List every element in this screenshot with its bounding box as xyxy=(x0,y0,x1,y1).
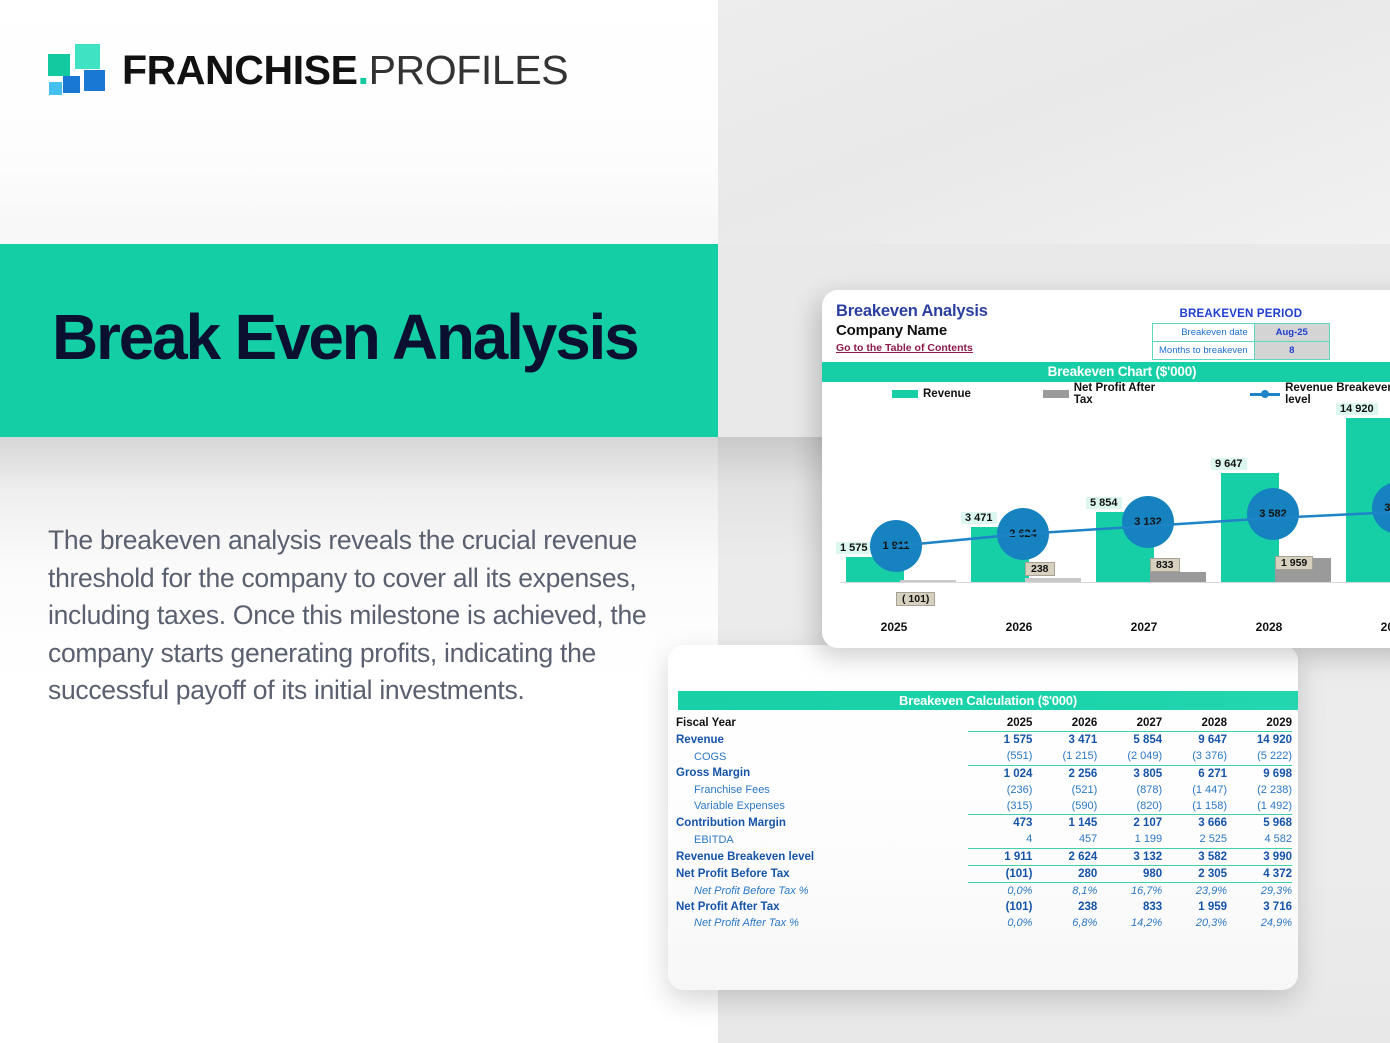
breakeven-date-label: Breakeven date xyxy=(1153,324,1255,342)
logo-squares-icon xyxy=(48,44,106,96)
row-cell: (3 376) xyxy=(1162,748,1227,765)
row-cell: 980 xyxy=(1097,865,1162,882)
page-title: Break Even Analysis xyxy=(52,305,638,369)
table-row: Net Profit Before Tax % 0,0% 8,1% 16,7% … xyxy=(676,882,1292,899)
brand-name-bold: FRANCHISE xyxy=(122,47,358,93)
row-cell: 6 271 xyxy=(1162,765,1227,782)
row-cell: 0,0% xyxy=(968,915,1033,931)
row-cell: 5 968 xyxy=(1227,815,1292,832)
row-cell: 3 132 xyxy=(1097,848,1162,865)
row-cell: 1 575 xyxy=(968,732,1033,749)
row-cell: (1 215) xyxy=(1032,748,1097,765)
table-row: COGS (551) (1 215) (2 049) (3 376) (5 22… xyxy=(676,748,1292,765)
row-cell: (101) xyxy=(968,865,1033,882)
table-row: Contribution Margin 473 1 145 2 107 3 66… xyxy=(676,815,1292,832)
row-cell: 4 582 xyxy=(1227,831,1292,848)
x-axis-label-2026: 2026 xyxy=(963,620,1075,634)
revenue-value-2025: 1 575 xyxy=(836,542,872,554)
net-profit-value-2026: 238 xyxy=(1025,562,1055,576)
net-profit-swatch-icon xyxy=(1043,390,1069,398)
x-axis-label-2028: 2028 xyxy=(1213,620,1325,634)
row-cell: 24,9% xyxy=(1227,915,1292,931)
row-cell: 6,8% xyxy=(1032,915,1097,931)
row-cell: (1 447) xyxy=(1162,782,1227,798)
row-cell: 4 xyxy=(968,831,1033,848)
row-cell: 2 305 xyxy=(1162,865,1227,882)
row-label: Revenue xyxy=(676,732,968,749)
revenue-value-2026: 3 471 xyxy=(961,512,997,524)
months-to-breakeven-value: 8 xyxy=(1254,342,1329,360)
breakeven-period-heading: BREAKEVEN PERIOD xyxy=(1152,308,1330,320)
row-label: EBITDA xyxy=(676,831,968,848)
row-label: COGS xyxy=(676,748,968,765)
row-label: Net Profit Before Tax % xyxy=(676,882,968,899)
row-cell: (236) xyxy=(968,782,1033,798)
row-label: Franchise Fees xyxy=(676,782,968,798)
revenue-value-2027: 5 854 xyxy=(1086,497,1122,509)
legend-item-revenue[interactable]: Revenue xyxy=(892,388,971,400)
row-cell: (521) xyxy=(1032,782,1097,798)
chart-baseline xyxy=(840,582,1390,583)
net-profit-bar-2026[interactable] xyxy=(1025,578,1081,582)
kpi-row: Breakeven date Aug-25 xyxy=(1153,324,1330,342)
x-axis-label-2025: 2025 xyxy=(838,620,950,634)
row-cell: (1 492) xyxy=(1227,798,1292,815)
fiscal-year-header: Fiscal Year xyxy=(676,715,968,732)
table-row: Franchise Fees (236) (521) (878) (1 447)… xyxy=(676,782,1292,798)
net-profit-value-2025: ( 101) xyxy=(896,592,935,606)
row-cell: 3 716 xyxy=(1227,899,1292,915)
row-cell: 238 xyxy=(1032,899,1097,915)
row-cell: 3 582 xyxy=(1162,848,1227,865)
row-cell: 3 990 xyxy=(1227,848,1292,865)
row-label: Contribution Margin xyxy=(676,815,968,832)
row-cell: 2 256 xyxy=(1032,765,1097,782)
row-cell: 3 666 xyxy=(1162,815,1227,832)
table-band-title: Breakeven Calculation ($'000) xyxy=(678,691,1298,710)
row-cell: 9 698 xyxy=(1227,765,1292,782)
table-row: Gross Margin 1 024 2 256 3 805 6 271 9 6… xyxy=(676,765,1292,782)
row-cell: 8,1% xyxy=(1032,882,1097,899)
row-cell: (590) xyxy=(1032,798,1097,815)
chart-plot-area: 1 575 ( 101) 1 911 2025 3 471 238 2 624 … xyxy=(822,408,1390,648)
row-cell: (820) xyxy=(1097,798,1162,815)
net-profit-bar-2025[interactable] xyxy=(900,580,956,582)
row-cell: 9 647 xyxy=(1162,732,1227,749)
revenue-swatch-icon xyxy=(892,390,918,398)
bg-panel-top-right xyxy=(718,0,1390,244)
chart-group-2029: 14 920 3 716 3 990 xyxy=(1338,408,1390,582)
breakeven-line-marker-icon xyxy=(1250,389,1280,399)
row-cell: 1 199 xyxy=(1097,831,1162,848)
year-header-2028: 2028 xyxy=(1162,715,1227,732)
row-cell: 29,3% xyxy=(1227,882,1292,899)
year-header-2027: 2027 xyxy=(1097,715,1162,732)
year-header-2025: 2025 xyxy=(968,715,1033,732)
row-cell: 1 959 xyxy=(1162,899,1227,915)
breakeven-bubble-2027[interactable]: 3 132 xyxy=(1122,496,1174,548)
breakeven-calculation-table: Fiscal Year 2025 2026 2027 2028 2029 Rev… xyxy=(676,715,1292,931)
row-cell: 23,9% xyxy=(1162,882,1227,899)
net-profit-value-2027: 833 xyxy=(1150,558,1180,572)
row-label: Net Profit After Tax % xyxy=(676,915,968,931)
table-row: Net Profit After Tax (101) 238 833 1 959… xyxy=(676,899,1292,915)
row-cell: 3 805 xyxy=(1097,765,1162,782)
breakeven-date-value: Aug-25 xyxy=(1254,324,1329,342)
x-axis-label-2027: 2027 xyxy=(1088,620,1200,634)
chart-legend: Revenue Net Profit After Tax Revenue Bre… xyxy=(822,384,1390,404)
chart-group-2028: 9 647 1 959 3 582 xyxy=(1213,408,1325,582)
row-cell: 1 024 xyxy=(968,765,1033,782)
row-cell: 3 471 xyxy=(1032,732,1097,749)
table-row: Variable Expenses (315) (590) (820) (1 1… xyxy=(676,798,1292,815)
row-cell: 1 145 xyxy=(1032,815,1097,832)
breakeven-period-block: BREAKEVEN PERIOD Breakeven date Aug-25 M… xyxy=(1152,308,1330,360)
row-label: Net Profit After Tax xyxy=(676,899,968,915)
row-label: Net Profit Before Tax xyxy=(676,865,968,882)
breakeven-period-table: Breakeven date Aug-25 Months to breakeve… xyxy=(1152,323,1330,360)
table-row: Net Profit After Tax % 0,0% 6,8% 14,2% 2… xyxy=(676,915,1292,931)
row-cell: 2 107 xyxy=(1097,815,1162,832)
chart-group-2026: 3 471 238 2 624 xyxy=(963,408,1075,582)
row-cell: 20,3% xyxy=(1162,915,1227,931)
row-cell: 473 xyxy=(968,815,1033,832)
table-row: Revenue 1 575 3 471 5 854 9 647 14 920 xyxy=(676,732,1292,749)
row-cell: 0,0% xyxy=(968,882,1033,899)
breakeven-chart-card: Breakeven Analysis Company Name Go to th… xyxy=(822,290,1390,648)
row-cell: (878) xyxy=(1097,782,1162,798)
breakeven-bubble-2028[interactable]: 3 582 xyxy=(1247,488,1299,540)
chart-band-title: Breakeven Chart ($'000) xyxy=(822,362,1390,382)
row-label: Revenue Breakeven level xyxy=(676,848,968,865)
row-label: Variable Expenses xyxy=(676,798,968,815)
row-cell: 457 xyxy=(1032,831,1097,848)
brand-dot: . xyxy=(358,47,369,93)
row-cell: (315) xyxy=(968,798,1033,815)
x-axis-label-2029: 2029 xyxy=(1338,620,1390,634)
net-profit-bar-2027[interactable] xyxy=(1150,572,1206,582)
row-cell: 2 525 xyxy=(1162,831,1227,848)
year-header-2029: 2029 xyxy=(1227,715,1292,732)
breakeven-bubble-2026[interactable]: 2 624 xyxy=(997,508,1049,560)
chart-group-2027: 5 854 833 3 132 xyxy=(1088,408,1200,582)
row-cell: 14 920 xyxy=(1227,732,1292,749)
row-cell: 4 372 xyxy=(1227,865,1292,882)
hero-description: The breakeven analysis reveals the cruci… xyxy=(48,522,648,710)
kpi-row: Months to breakeven 8 xyxy=(1153,342,1330,360)
row-cell: (101) xyxy=(968,899,1033,915)
row-cell: (1 158) xyxy=(1162,798,1227,815)
brand-wordmark: FRANCHISE.PROFILES xyxy=(122,50,568,91)
revenue-value-2028: 9 647 xyxy=(1211,458,1247,470)
months-to-breakeven-label: Months to breakeven xyxy=(1153,342,1255,360)
revenue-value-2029: 14 920 xyxy=(1336,403,1378,415)
row-cell: 16,7% xyxy=(1097,882,1162,899)
breakeven-bubble-2025[interactable]: 1 911 xyxy=(870,520,922,572)
table-row: Net Profit Before Tax (101) 280 980 2 30… xyxy=(676,865,1292,882)
row-cell: 2 624 xyxy=(1032,848,1097,865)
legend-label-revenue: Revenue xyxy=(923,388,971,400)
chart-group-2025: 1 575 ( 101) 1 911 xyxy=(838,408,950,582)
row-cell: (2 049) xyxy=(1097,748,1162,765)
table-header-row: Fiscal Year 2025 2026 2027 2028 2029 xyxy=(676,715,1292,732)
table-row: EBITDA 4 457 1 199 2 525 4 582 xyxy=(676,831,1292,848)
row-cell: 14,2% xyxy=(1097,915,1162,931)
row-cell: (551) xyxy=(968,748,1033,765)
bg-panel-top-left xyxy=(0,0,718,244)
row-cell: (2 238) xyxy=(1227,782,1292,798)
net-profit-value-2028: 1 959 xyxy=(1275,556,1313,570)
legend-label-net-profit: Net Profit After Tax xyxy=(1074,382,1177,406)
year-header-2026: 2026 xyxy=(1032,715,1097,732)
brand-name-light: PROFILES xyxy=(369,47,569,93)
row-cell: 833 xyxy=(1097,899,1162,915)
row-label: Gross Margin xyxy=(676,765,968,782)
breakeven-calculation-card: Breakeven Calculation ($'000) Fiscal Yea… xyxy=(668,645,1298,990)
legend-item-net-profit[interactable]: Net Profit After Tax xyxy=(1043,382,1176,406)
table-row: Revenue Breakeven level 1 911 2 624 3 13… xyxy=(676,848,1292,865)
row-cell: (5 222) xyxy=(1227,748,1292,765)
row-cell: 1 911 xyxy=(968,848,1033,865)
brand-logo[interactable]: FRANCHISE.PROFILES xyxy=(48,44,568,96)
row-cell: 5 854 xyxy=(1097,732,1162,749)
row-cell: 280 xyxy=(1032,865,1097,882)
